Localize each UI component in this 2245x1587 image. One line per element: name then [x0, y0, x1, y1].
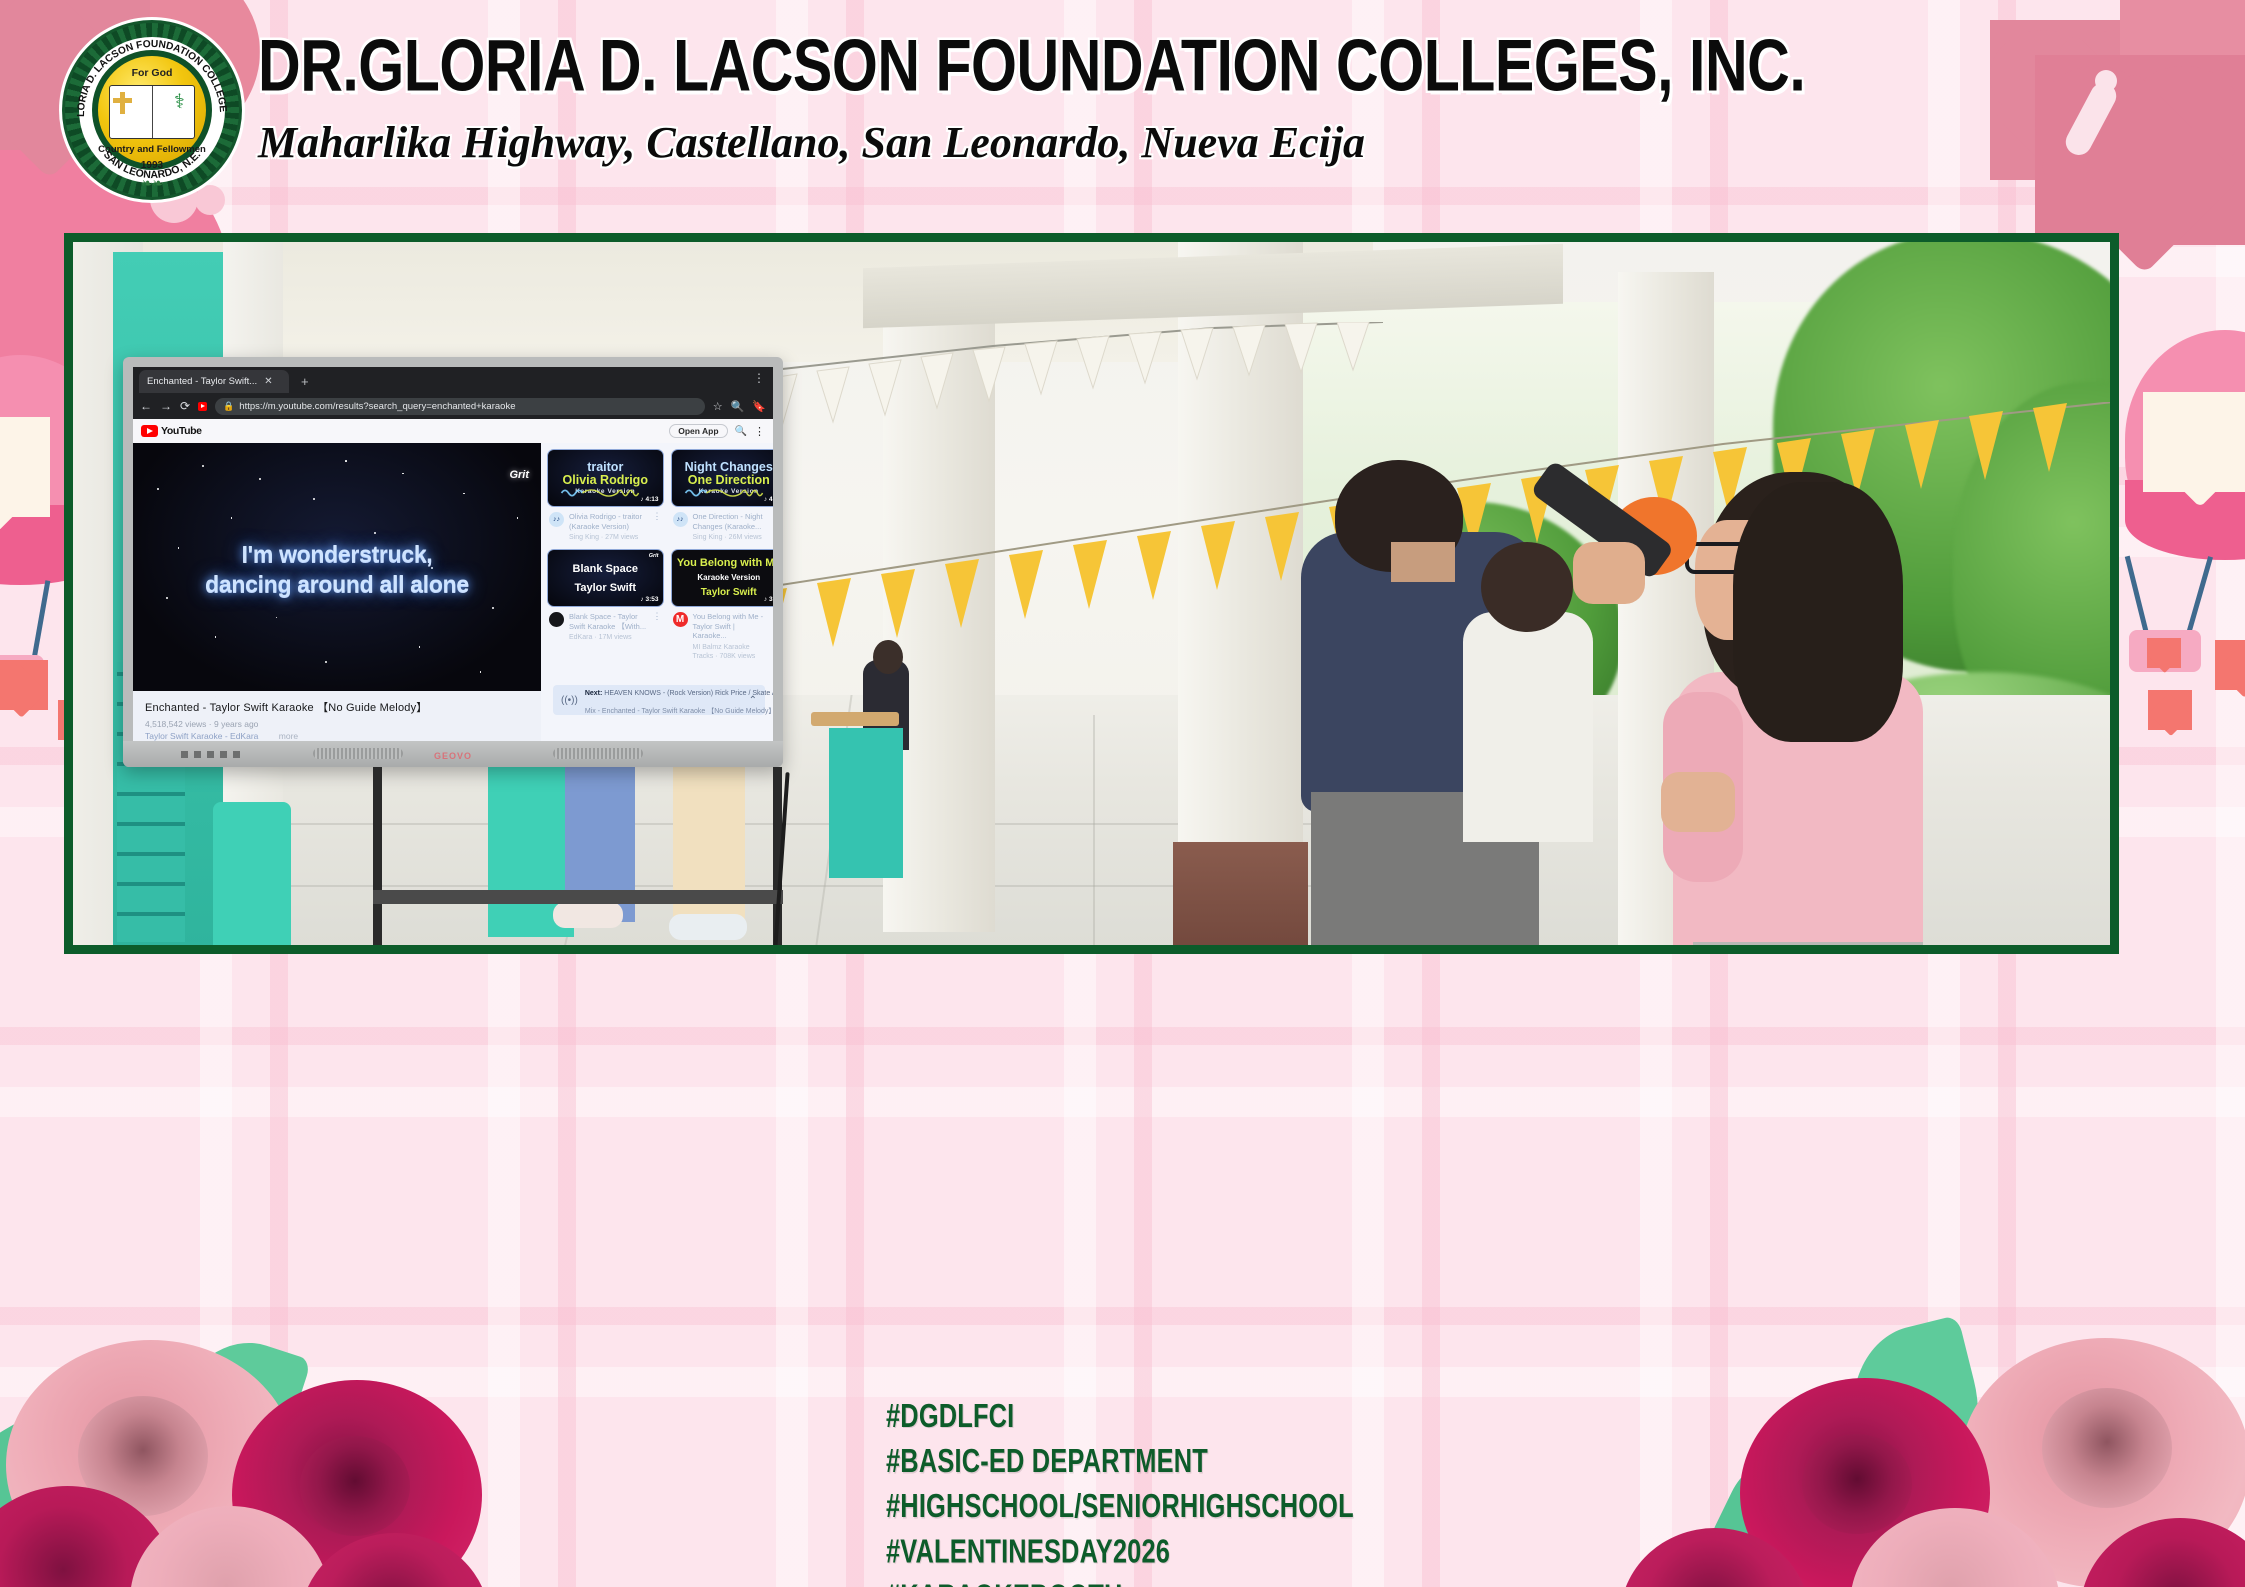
karaoke-lyrics: I'm wonderstruck, dancing around all alo… — [133, 539, 541, 599]
floor-tile-line — [1093, 715, 1095, 945]
video-channel[interactable]: Taylor Swift Karaoke - EdKara more — [145, 731, 529, 741]
header-text-block: DR.GLORIA D. LACSON FOUNDATION COLLEGES,… — [258, 26, 1829, 168]
rose-pink-large-center — [2042, 1388, 2172, 1508]
desk-wood — [811, 712, 899, 726]
seal-cross-icon — [120, 92, 125, 114]
result-card[interactable]: Night Changes One Direction Karaoke Vers… — [671, 449, 774, 542]
video-player[interactable]: Grit I'm wonderstruck, dancing around al… — [133, 443, 541, 691]
result-thumbnail[interactable]: You Belong with Me Karaoke Version Taylo… — [671, 549, 774, 607]
bookmark-icon[interactable]: 🔖 — [752, 400, 766, 413]
youtube-header-actions: Open App 🔍 ⋮ — [669, 424, 765, 438]
arrow-left-icon[interactable]: ← — [140, 399, 152, 413]
thumb-duration: ♪ 4:13 — [640, 496, 658, 503]
thumb-duration: ♪ 4:06 — [764, 496, 773, 503]
thumb-artist: Taylor Swift — [701, 586, 757, 599]
display-port-indicators — [181, 751, 241, 758]
person-white-head — [1481, 542, 1573, 632]
result-card[interactable]: You Belong with Me Karaoke Version Taylo… — [671, 549, 774, 661]
result-meta: M You Belong with Me - Taylor Swift | Ka… — [671, 607, 774, 661]
result-title: Olivia Rodrigo - traitor (Karaoke Versio… — [569, 512, 648, 531]
player-watermark: Grit — [509, 469, 529, 481]
rose-cluster-right — [1650, 1318, 2245, 1587]
lyric-line-1: I'm wonderstruck, — [133, 539, 541, 569]
youtube-wordmark: YouTube — [161, 425, 202, 437]
heart-icon-float-right-1 — [2215, 640, 2245, 690]
browser-tab[interactable]: Enchanted - Taylor Swift... ✕ — [139, 370, 289, 393]
hashtag-line: #DGDLFCI — [886, 1394, 1354, 1439]
chevron-up-icon[interactable]: ⌃ — [749, 695, 757, 706]
school-address: Maharlika Highway, Castellano, San Leona… — [258, 118, 1829, 168]
result-subtitle: Sing King · 27M views — [569, 533, 648, 542]
speaker-grille-icon — [313, 748, 403, 759]
tab-title: Enchanted - Taylor Swift... — [147, 376, 257, 387]
display-stand-shelf — [373, 890, 783, 904]
plus-icon[interactable]: + — [301, 374, 309, 389]
result-subtitle: EdKara · 17M views — [569, 633, 648, 642]
next-up-bar[interactable]: ((•)) Next: HEAVEN KNOWS - (Rock Version… — [553, 685, 765, 715]
poster-root: DR. GLORIA D. LACSON FOUNDATION COLLEGES… — [0, 0, 2245, 1587]
result-meta: ♪♪ One Direction - Night Changes (Karaok… — [671, 507, 774, 542]
display-brand: GEOVO — [434, 751, 472, 761]
seal-caduceus-icon: ⚕ — [174, 92, 188, 114]
seated-student-head — [873, 640, 903, 674]
youtube-favicon — [198, 402, 207, 411]
chrome-browser: Enchanted - Taylor Swift... ✕ + ⋮ ← → ⟳ — [133, 367, 773, 741]
heart-icon-float-left-1 — [0, 660, 48, 710]
hot-air-balloon-right — [2125, 330, 2245, 670]
display-screen: Enchanted - Taylor Swift... ✕ + ⋮ ← → ⟳ — [133, 367, 773, 741]
result-card[interactable]: traitor Olivia Rodrigo Karaoke Version — [547, 449, 664, 542]
kebab-menu-icon[interactable]: ⋮ — [653, 512, 662, 542]
school-name: DR.GLORIA D. LACSON FOUNDATION COLLEGES,… — [258, 26, 1805, 107]
video-info-panel: Enchanted - Taylor Swift Karaoke 【No Gui… — [133, 691, 541, 741]
chair-teal-2 — [213, 802, 291, 945]
person-pink-hand — [1661, 772, 1735, 832]
channel-avatar[interactable]: ♪♪ — [673, 512, 688, 527]
hashtag-line: #BASIC-ED DEPARTMENT — [886, 1439, 1354, 1484]
thumb-duration: ♪ 3:59 — [764, 596, 773, 603]
result-meta: ♪♪ Olivia Rodrigo - traitor (Karaoke Ver… — [547, 507, 664, 542]
lyric-line-2: dancing around all alone — [133, 569, 541, 599]
search-icon[interactable]: 🔍 — [731, 400, 745, 413]
seal-year: 1993 — [62, 160, 242, 171]
event-photo: Enchanted - Taylor Swift... ✕ + ⋮ ← → ⟳ — [73, 242, 2110, 945]
channel-avatar[interactable]: M — [673, 612, 688, 627]
person-white-shirt — [1463, 612, 1593, 842]
next-label: Next: — [585, 690, 603, 697]
speaker-grille-icon — [553, 748, 643, 759]
next-up-line-1: Next: HEAVEN KNOWS - (Rock Version) Rick… — [585, 690, 773, 697]
thumb-watermark: Grit — [649, 553, 659, 559]
result-meta: Blank Space - Taylor Swift Karaoke 【With… — [547, 607, 664, 642]
chair-teal-3 — [829, 728, 903, 878]
thumb-song-title: You Belong with Me — [677, 557, 773, 570]
channel-avatar[interactable] — [549, 612, 564, 627]
search-icon[interactable]: 🔍 — [735, 426, 747, 437]
star-icon[interactable]: ☆ — [713, 400, 723, 413]
person-pink-pants — [1693, 942, 1923, 945]
hashtag-block: #DGDLFCI #BASIC-ED DEPARTMENT #HIGHSCHOO… — [886, 1394, 1354, 1587]
browser-tabstrip: Enchanted - Taylor Swift... ✕ + ⋮ — [133, 367, 773, 393]
thumb-subtitle: Karaoke Version — [697, 572, 760, 584]
url-text: https://m.youtube.com/results?search_que… — [239, 401, 515, 412]
thumb-duration: ♪ 3:53 — [640, 596, 658, 603]
thumb-artist: Taylor Swift — [574, 582, 636, 594]
photo-frame: Enchanted - Taylor Swift... ✕ + ⋮ ← → ⟳ — [64, 233, 2119, 954]
person-navy-neck — [1391, 542, 1455, 582]
hashtag-line: #VALENTINESDAY2026 — [886, 1529, 1354, 1574]
result-thumbnail[interactable]: Grit Blank Space Taylor Swift ♪ 3:53 — [547, 549, 664, 607]
person-shoe-2 — [669, 914, 747, 940]
heart-icon-float-right-2 — [2148, 690, 2192, 730]
youtube-play-icon — [141, 425, 158, 437]
poster-header: DR. GLORIA D. LACSON FOUNDATION COLLEGES… — [0, 0, 2245, 200]
waveform-icon — [676, 486, 774, 500]
result-thumbnail[interactable]: Night Changes One Direction Karaoke Vers… — [671, 449, 774, 507]
channel-avatar[interactable]: ♪♪ — [549, 512, 564, 527]
seal-motto-top: For God — [62, 67, 242, 79]
channel-name: Taylor Swift Karaoke - EdKara — [145, 731, 258, 741]
kebab-menu-icon[interactable]: ⋮ — [754, 425, 765, 438]
microphone-hand — [1573, 542, 1645, 604]
rose-crimson-center — [1802, 1434, 1912, 1534]
youtube-header: YouTube Open App 🔍 ⋮ — [133, 419, 773, 443]
person-shoe-1 — [553, 902, 623, 928]
thumb-song-title: Blank Space — [573, 563, 638, 575]
video-meta: 4,518,542 views · 9 years ago — [145, 719, 529, 729]
kebab-menu-icon[interactable]: ⋮ — [753, 371, 765, 385]
open-app-button[interactable]: Open App — [669, 424, 727, 438]
lock-icon: 🔒 — [223, 401, 234, 412]
more-link[interactable]: more — [279, 731, 298, 741]
result-card[interactable]: Grit Blank Space Taylor Swift ♪ 3:53 B — [547, 549, 664, 661]
browser-omnibox-row: ← → ⟳ 🔒 https://m.youtube.com/results?se… — [133, 393, 773, 419]
broadcast-icon: ((•)) — [561, 695, 578, 706]
youtube-logo[interactable]: YouTube — [141, 425, 202, 437]
results-grid: traitor Olivia Rodrigo Karaoke Version — [547, 449, 773, 661]
close-icon[interactable]: ✕ — [264, 376, 272, 387]
school-seal-logo: DR. GLORIA D. LACSON FOUNDATION COLLEGES… — [62, 20, 242, 200]
seal-laurel-icon: ❧❧ — [62, 175, 242, 192]
hashtag-line: #KARAOKEBOOTH — [886, 1575, 1354, 1587]
arrow-right-icon[interactable]: → — [160, 399, 172, 413]
display-stand-left-leg — [373, 767, 382, 945]
rose-crimson-center — [300, 1436, 410, 1536]
reload-icon[interactable]: ⟳ — [180, 399, 190, 413]
seal-motto-bottom: Country and Fellowmen — [62, 144, 242, 155]
next-up-line-2: Mix - Enchanted - Taylor Swift Karaoke 【… — [585, 708, 773, 715]
result-title: You Belong with Me - Taylor Swift | Kara… — [693, 612, 772, 641]
video-title: Enchanted - Taylor Swift Karaoke 【No Gui… — [145, 699, 529, 715]
person-pink-hair-front — [1733, 482, 1903, 742]
interactive-display: Enchanted - Taylor Swift... ✕ + ⋮ ← → ⟳ — [123, 357, 783, 767]
result-subtitle: Sing King · 26M views — [693, 533, 772, 542]
rose-cluster-left — [0, 1318, 610, 1587]
result-title: Blank Space - Taylor Swift Karaoke 【With… — [569, 612, 648, 631]
hashtag-line: #HIGHSCHOOL/SENIORHIGHSCHOOL — [886, 1484, 1354, 1529]
result-thumbnail[interactable]: traitor Olivia Rodrigo Karaoke Version — [547, 449, 664, 507]
omnibox-actions: ☆ 🔍 🔖 — [713, 400, 766, 413]
result-subtitle: MI Balmz Karaoke Tracks · 708K views — [693, 643, 772, 661]
result-title: One Direction - Night Changes (Karaoke..… — [693, 512, 772, 531]
pillar-base-right — [1173, 842, 1308, 945]
kebab-menu-icon[interactable]: ⋮ — [653, 612, 662, 642]
url-input[interactable]: 🔒 https://m.youtube.com/results?search_q… — [215, 398, 705, 415]
display-bezel: GEOVO — [123, 741, 783, 767]
